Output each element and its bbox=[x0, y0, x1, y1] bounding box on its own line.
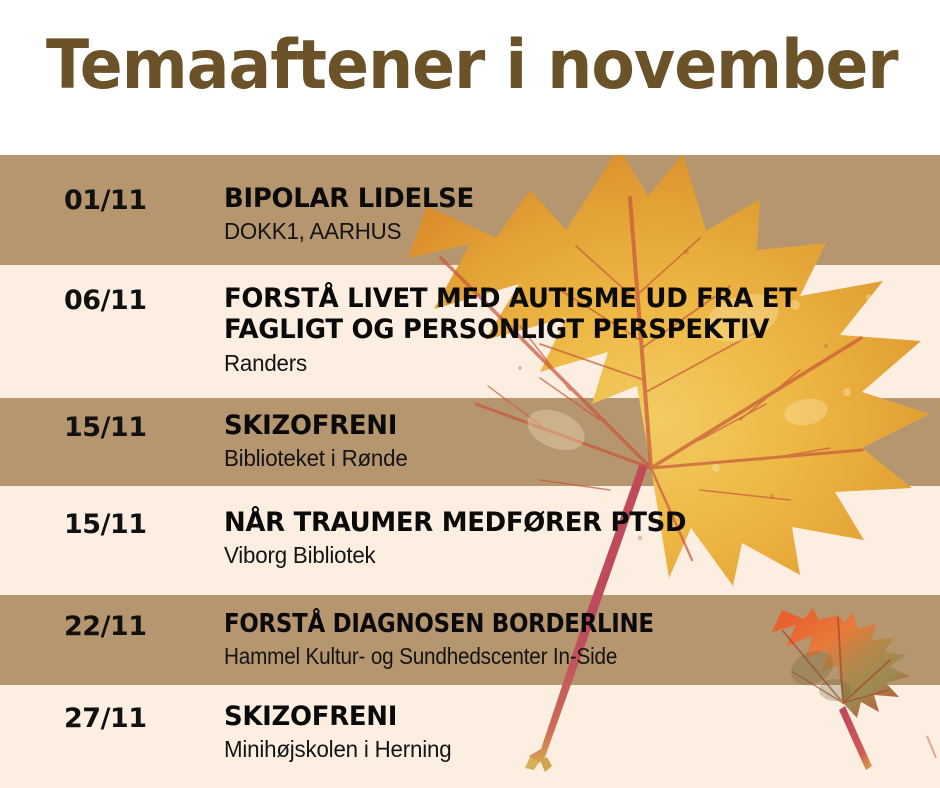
list-item[interactable]: 01/11 BIPOLAR LIDELSE DOKK1, AARHUS bbox=[0, 155, 940, 265]
poster-canvas: Temaaftener i november 01/11 BIPOLAR LID… bbox=[0, 0, 940, 788]
event-venue: Viborg Bibliotek bbox=[224, 542, 915, 570]
event-date: 22/11 bbox=[64, 611, 147, 642]
event-date: 27/11 bbox=[64, 703, 147, 734]
title-bar: Temaaftener i november bbox=[0, 0, 940, 155]
event-title: SKIZOFRENI bbox=[224, 701, 908, 732]
event-body: SKIZOFRENI Minihøjskolen i Herning bbox=[224, 701, 936, 764]
event-title: SKIZOFRENI bbox=[224, 410, 908, 441]
event-venue: Minihøjskolen i Herning bbox=[224, 736, 915, 764]
page-title: Temaaftener i november bbox=[46, 26, 898, 105]
event-body: SKIZOFRENI Biblioteket i Rønde bbox=[224, 410, 936, 473]
event-body: BIPOLAR LIDELSE DOKK1, AARHUS bbox=[224, 183, 936, 246]
event-body: NÅR TRAUMER MEDFØRER PTSD Viborg Bibliot… bbox=[224, 507, 936, 570]
event-date: 15/11 bbox=[64, 412, 147, 443]
event-date: 01/11 bbox=[64, 185, 147, 216]
event-venue: DOKK1, AARHUS bbox=[224, 218, 915, 246]
event-body: FORSTÅ DIAGNOSEN BORDERLINE Hammel Kultu… bbox=[224, 609, 936, 671]
event-venue: Randers bbox=[224, 350, 915, 378]
event-title: BIPOLAR LIDELSE bbox=[224, 183, 908, 214]
list-item[interactable]: 15/11 SKIZOFRENI Biblioteket i Rønde bbox=[0, 398, 940, 486]
event-title: NÅR TRAUMER MEDFØRER PTSD bbox=[224, 507, 908, 538]
event-venue: Hammel Kultur- og Sundhedscenter In-Side bbox=[224, 643, 865, 671]
list-item[interactable]: 22/11 FORSTÅ DIAGNOSEN BORDERLINE Hammel… bbox=[0, 595, 940, 685]
event-title: FORSTÅ LIVET MED AUTISME UD FRA ET FAGLI… bbox=[224, 283, 908, 346]
event-title: FORSTÅ DIAGNOSEN BORDERLINE bbox=[224, 609, 851, 639]
event-venue: Biblioteket i Rønde bbox=[224, 445, 915, 473]
event-date: 15/11 bbox=[64, 509, 147, 540]
list-item[interactable]: 27/11 SKIZOFRENI Minihøjskolen i Herning bbox=[0, 685, 940, 788]
event-body: FORSTÅ LIVET MED AUTISME UD FRA ET FAGLI… bbox=[224, 283, 936, 377]
event-date: 06/11 bbox=[64, 285, 147, 316]
list-item[interactable]: 06/11 FORSTÅ LIVET MED AUTISME UD FRA ET… bbox=[0, 265, 940, 398]
list-item[interactable]: 15/11 NÅR TRAUMER MEDFØRER PTSD Viborg B… bbox=[0, 486, 940, 595]
